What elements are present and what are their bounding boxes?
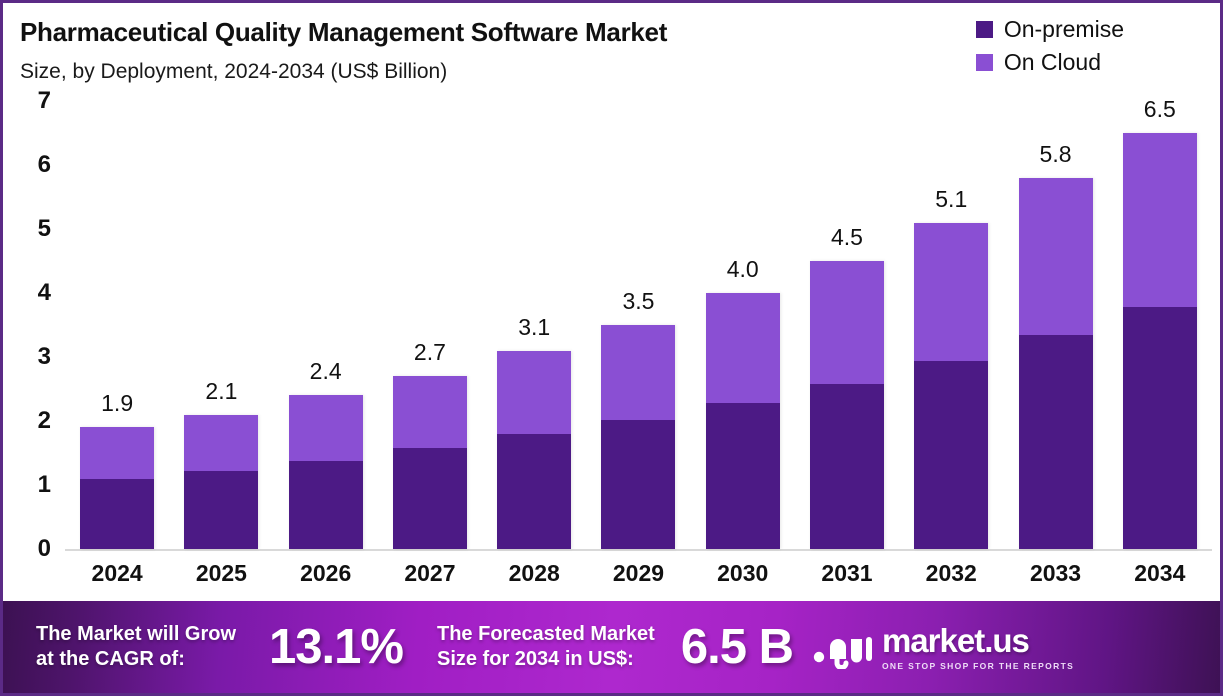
y-axis-tick: 1 [38, 473, 51, 497]
bar-segment-on-premise[interactable] [80, 479, 154, 549]
bar-value-label: 2.1 [205, 378, 237, 405]
bar-value-label: 3.1 [518, 314, 550, 341]
bar-value-label: 4.0 [727, 256, 759, 283]
page-subtitle: Size, by Deployment, 2024-2034 (US$ Bill… [20, 60, 447, 84]
cagr-label-line1: The Market will Grow [36, 622, 236, 647]
bar-segment-on-premise[interactable] [706, 403, 780, 549]
infographic-root: Pharmaceutical Quality Management Softwa… [0, 0, 1223, 696]
legend-swatch-on-premise [976, 21, 993, 38]
forecast-label-line2: Size for 2034 in US$: [437, 647, 655, 672]
bar-group[interactable]: 2.1 [181, 101, 262, 549]
legend-label-on-cloud: On Cloud [1004, 49, 1101, 76]
bar-value-label: 6.5 [1144, 96, 1176, 123]
bar-group[interactable]: 3.5 [598, 101, 679, 549]
legend-swatch-on-cloud [976, 54, 993, 71]
legend-label-on-premise: On-premise [1004, 16, 1124, 43]
x-axis-label: 2033 [1015, 560, 1096, 587]
x-axis-label: 2024 [76, 560, 157, 587]
bar-stack[interactable] [1123, 133, 1197, 549]
chart-plot-area: 01234567 1.92.12.42.73.13.54.04.55.15.86… [3, 101, 1223, 601]
cagr-block: The Market will Grow at the CAGR of: 13.… [36, 619, 403, 675]
bar-group[interactable]: 6.5 [1119, 101, 1200, 549]
bar-stack[interactable] [601, 325, 675, 549]
bar-group[interactable]: 2.4 [285, 101, 366, 549]
bar-value-label: 5.8 [1040, 141, 1072, 168]
bar-segment-on-cloud[interactable] [184, 415, 258, 471]
bar-value-label: 1.9 [101, 390, 133, 417]
y-axis-tick: 5 [38, 217, 51, 241]
forecast-block: The Forecasted Market Size for 2034 in U… [437, 619, 793, 675]
bar-value-label: 5.1 [935, 186, 967, 213]
bar-segment-on-premise[interactable] [497, 434, 571, 549]
bar-stack[interactable] [914, 223, 988, 549]
bar-segment-on-premise[interactable] [1123, 307, 1197, 549]
bar-value-label: 4.5 [831, 224, 863, 251]
legend-item-on-premise[interactable]: On-premise [976, 13, 1124, 46]
bar-segment-on-cloud[interactable] [289, 395, 363, 460]
x-axis-baseline [65, 549, 1212, 551]
brand-tagline: ONE STOP SHOP FOR THE REPORTS [882, 661, 1074, 671]
x-axis-label: 2031 [806, 560, 887, 587]
bar-group[interactable]: 3.1 [493, 101, 574, 549]
bar-group[interactable]: 2.7 [389, 101, 470, 549]
y-axis-tick: 7 [38, 89, 51, 113]
footer-banner: The Market will Grow at the CAGR of: 13.… [3, 601, 1223, 693]
brand-text: market.us ONE STOP SHOP FOR THE REPORTS [882, 624, 1074, 671]
x-axis-label: 2026 [285, 560, 366, 587]
bar-segment-on-cloud[interactable] [914, 223, 988, 362]
bar-segment-on-premise[interactable] [184, 471, 258, 549]
bar-group[interactable]: 4.0 [702, 101, 783, 549]
bar-stack[interactable] [393, 376, 467, 549]
legend-item-on-cloud[interactable]: On Cloud [976, 46, 1124, 79]
bar-segment-on-cloud[interactable] [1019, 178, 1093, 335]
bar-segment-on-cloud[interactable] [601, 325, 675, 420]
x-axis-label: 2025 [181, 560, 262, 587]
x-axis-label: 2030 [702, 560, 783, 587]
bar-stack[interactable] [184, 415, 258, 549]
y-axis-tick: 6 [38, 153, 51, 177]
forecast-label-line1: The Forecasted Market [437, 622, 655, 647]
bar-segment-on-premise[interactable] [810, 384, 884, 549]
bar-stack[interactable] [1019, 178, 1093, 549]
bar-value-label: 2.7 [414, 339, 446, 366]
x-axis-label: 2027 [389, 560, 470, 587]
bar-stack[interactable] [80, 427, 154, 549]
y-axis-tick: 4 [38, 281, 51, 305]
bar-segment-on-premise[interactable] [393, 448, 467, 549]
x-axis-label: 2028 [493, 560, 574, 587]
y-axis-tick: 0 [38, 537, 51, 561]
bar-segment-on-cloud[interactable] [393, 376, 467, 448]
chart-legend: On-premise On Cloud [976, 13, 1124, 79]
bar-segment-on-cloud[interactable] [706, 293, 780, 403]
bar-group[interactable]: 1.9 [76, 101, 157, 549]
bar-segment-on-cloud[interactable] [497, 351, 571, 434]
cagr-label-line2: at the CAGR of: [36, 647, 236, 672]
x-axis-label: 2034 [1119, 560, 1200, 587]
bar-segment-on-premise[interactable] [289, 461, 363, 549]
bar-stack[interactable] [706, 293, 780, 549]
bar-stack[interactable] [810, 261, 884, 549]
brand-name: market.us [882, 624, 1074, 657]
bar-group[interactable]: 5.8 [1015, 101, 1096, 549]
bar-segment-on-premise[interactable] [1019, 335, 1093, 549]
bar-segment-on-cloud[interactable] [810, 261, 884, 384]
bar-segment-on-cloud[interactable] [1123, 133, 1197, 307]
bar-segment-on-cloud[interactable] [80, 427, 154, 478]
x-axis-labels: 2024202520262027202820292030203120322033… [65, 553, 1212, 593]
bar-value-label: 3.5 [622, 288, 654, 315]
bar-stack[interactable] [289, 395, 363, 549]
bar-value-label: 2.4 [310, 358, 342, 385]
bar-series-container: 1.92.12.42.73.13.54.04.55.15.86.5 [65, 101, 1212, 549]
cagr-value: 13.1% [269, 619, 403, 675]
x-axis-label: 2032 [911, 560, 992, 587]
bar-segment-on-premise[interactable] [914, 361, 988, 549]
x-axis-label: 2029 [598, 560, 679, 587]
forecast-value: 6.5 B [681, 619, 793, 675]
market-us-logo-icon [813, 625, 873, 669]
bar-segment-on-premise[interactable] [601, 420, 675, 549]
y-axis: 01234567 [3, 101, 69, 549]
bar-stack[interactable] [497, 351, 571, 549]
y-axis-tick: 2 [38, 409, 51, 433]
bar-group[interactable]: 4.5 [806, 101, 887, 549]
cagr-label: The Market will Grow at the CAGR of: [36, 622, 236, 672]
forecast-label: The Forecasted Market Size for 2034 in U… [437, 622, 655, 672]
bar-group[interactable]: 5.1 [911, 101, 992, 549]
page-title: Pharmaceutical Quality Management Softwa… [20, 17, 667, 48]
y-axis-tick: 3 [38, 345, 51, 369]
brand-logo[interactable]: market.us ONE STOP SHOP FOR THE REPORTS [813, 624, 1074, 671]
